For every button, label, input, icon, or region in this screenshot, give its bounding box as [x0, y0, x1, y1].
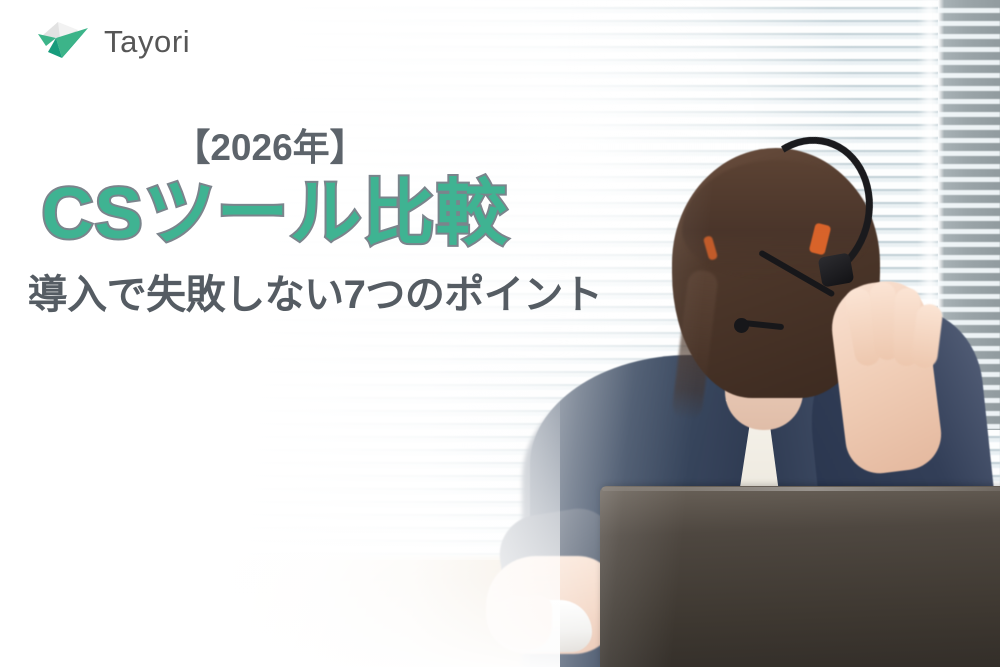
- page-title: CSツール比較: [0, 174, 660, 255]
- headline-block: 【2026年】 CSツール比較 導入で失敗しない7つのポイント: [0, 128, 660, 319]
- brand-wordmark: Tayori: [104, 26, 190, 57]
- blog-thumbnail-banner: Tayori 【2026年】 CSツール比較 導入で失敗しない7つのポイント: [0, 0, 1000, 667]
- brand-logo[interactable]: Tayori: [36, 18, 190, 64]
- paper-plane-envelope-icon: [36, 18, 92, 64]
- headline-kicker: 【2026年】: [0, 128, 660, 168]
- headline-subtitle: 導入で失敗しない7つのポイント: [0, 271, 660, 319]
- white-gradient-overlay-bottom: [0, 367, 560, 667]
